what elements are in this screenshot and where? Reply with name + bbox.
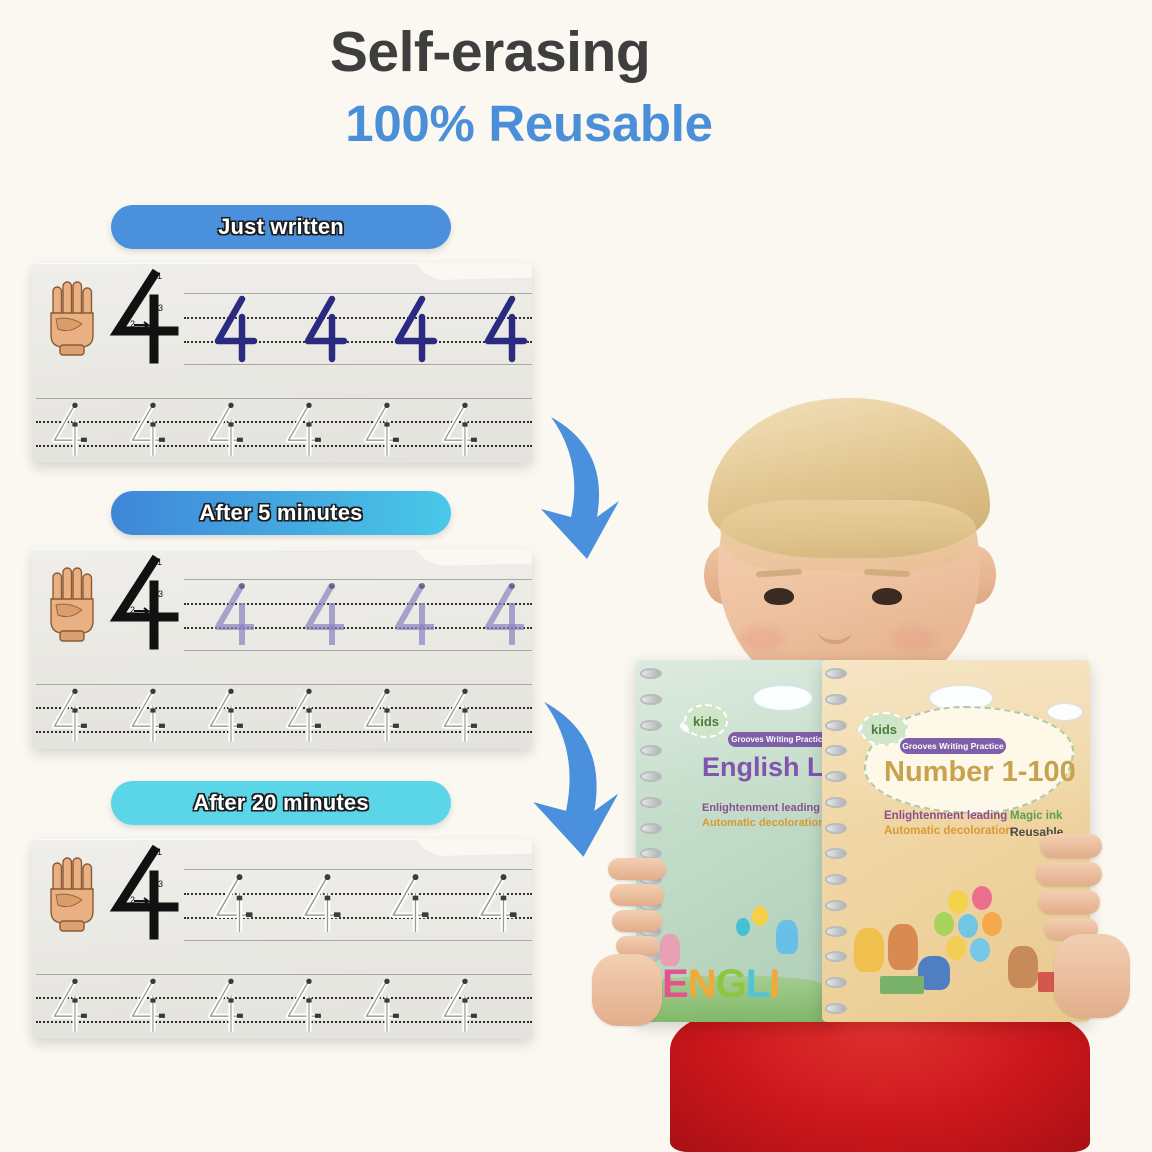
model-digit-four: 1 2 3	[104, 845, 186, 945]
stage-badge-label: After 20 minutes	[193, 790, 369, 816]
groove-digit	[358, 399, 404, 461]
book-english-letters[interactable]: kids Grooves Writing Practice English Le…	[636, 660, 832, 1022]
erased-digit-row	[208, 870, 522, 938]
number-balloon	[972, 886, 992, 910]
kids-badge-green: kids	[684, 704, 728, 738]
book-stack	[880, 976, 924, 994]
english-block-letters: ENGLI	[662, 964, 779, 1004]
page-title: Self-erasing 100% Reusable	[0, 22, 980, 152]
number-balloon	[948, 890, 968, 914]
balloon-cyan	[736, 918, 750, 936]
model-digit-four: 1 2 3	[104, 269, 186, 369]
book-subtitle-decoloration-green: Automatic decoloration	[702, 817, 825, 829]
groove-digit	[296, 870, 346, 938]
groove-digit	[124, 399, 170, 461]
practice-sheet-just-written: 1 2 3	[32, 263, 532, 463]
product-photo: kids Grooves Writing Practice English Le…	[600, 360, 1152, 1152]
written-digit-row	[208, 293, 532, 365]
book-bottom-illustration-green: ENGLI	[636, 884, 832, 1022]
svg-text:3: 3	[158, 589, 163, 599]
faded-digit	[208, 579, 262, 651]
sheet-key-area: 1 2 3	[38, 847, 186, 975]
headline-line-2: 100% Reusable	[0, 96, 980, 152]
groove-digit	[436, 975, 482, 1037]
stage-badge-after-20-minutes: After 20 minutes	[111, 781, 451, 825]
stage-badge-just-written: Just written	[111, 205, 451, 249]
kid-figure-reading-2	[888, 924, 918, 970]
boy-shirt	[670, 1010, 1090, 1152]
faded-digit	[478, 579, 532, 651]
written-digit	[298, 293, 352, 365]
book-title-english: English Le	[702, 752, 832, 783]
stage-badge-label: After 5 minutes	[199, 500, 362, 526]
svg-text:3: 3	[158, 303, 163, 313]
four-fingers-hand-icon	[44, 279, 100, 357]
groove-digit	[436, 399, 482, 461]
faded-digit	[388, 579, 442, 651]
cloud-shape	[754, 686, 812, 710]
number-balloon	[970, 938, 990, 962]
book-subtitle-decoloration-orange: Automatic decoloration	[884, 825, 1012, 837]
curved-down-arrow-1	[527, 405, 637, 565]
headline-line-1: Self-erasing	[0, 22, 980, 84]
gwp-text: Grooves Writing Practice	[731, 735, 826, 744]
groove-digit	[358, 685, 404, 747]
written-digit	[208, 293, 262, 365]
book-subtitle-enlightenment-orange: Enlightenment leading	[884, 810, 1007, 822]
svg-text:3: 3	[158, 879, 163, 889]
groove-digit	[202, 399, 248, 461]
practice-sheet-after-20-minutes: 1 2 3	[32, 839, 532, 1039]
groove-digit	[358, 975, 404, 1037]
written-digit	[388, 293, 442, 365]
groove-digit	[46, 399, 92, 461]
written-digit-row	[208, 579, 532, 651]
stage-badge-after-5-minutes: After 5 minutes	[111, 491, 451, 535]
svg-text:1: 1	[157, 557, 162, 567]
groove-digit	[46, 975, 92, 1037]
stage-badge-label: Just written	[218, 214, 344, 240]
written-digit	[478, 293, 532, 365]
groove-digit	[280, 399, 326, 461]
svg-text:1: 1	[157, 271, 162, 281]
book-subtitle-enlightenment-green: Enlightenment leading	[702, 802, 820, 814]
number-balloon	[958, 914, 978, 938]
boy-cheek-right	[892, 626, 936, 652]
boy-eye-left	[764, 588, 794, 605]
cloud-shape	[1048, 704, 1082, 720]
groove-digit	[208, 870, 258, 938]
boy-nose	[818, 618, 852, 644]
kids-badge-label: kids	[693, 714, 719, 729]
groove-digit	[202, 975, 248, 1037]
book-title-number: Number 1-100	[884, 756, 1076, 789]
groove-digit-row	[46, 685, 482, 747]
four-fingers-hand-icon	[44, 565, 100, 643]
number-balloon	[982, 912, 1002, 936]
groove-digit-row	[46, 399, 482, 461]
groove-digit	[384, 870, 434, 938]
boy-fringe	[720, 500, 976, 570]
grooves-writing-practice-label-green: Grooves Writing Practice	[728, 732, 830, 747]
number-balloon	[946, 936, 966, 960]
groove-digit	[280, 975, 326, 1037]
kids-badge-label: kids	[871, 722, 897, 737]
groove-digit	[202, 685, 248, 747]
book-subtitle-magic-ink: Magic ink	[1010, 810, 1062, 822]
curved-down-arrow-2	[518, 686, 638, 866]
boy-cheek-left	[740, 626, 784, 652]
promo-image: Self-erasing 100% Reusable Just written …	[0, 0, 1152, 1152]
kid-figure-reading-1	[854, 928, 884, 972]
sheet-key-area: 1 2 3	[38, 271, 186, 399]
groove-digit	[124, 685, 170, 747]
kid-figure-reading-4	[1008, 946, 1038, 988]
faded-digit	[298, 579, 352, 651]
groove-digit	[124, 975, 170, 1037]
practice-sheet-after-5-minutes: 1 2 3	[32, 549, 532, 749]
sheet-key-area: 1 2 3	[38, 557, 186, 685]
groove-digit	[436, 685, 482, 747]
groove-digit	[280, 685, 326, 747]
kid-figure-right	[776, 920, 798, 954]
boy-eye-right	[872, 588, 902, 605]
gwp-text: Grooves Writing Practice	[902, 741, 1003, 751]
balloon-yellow	[752, 906, 768, 926]
grooves-writing-practice-label-orange: Grooves Writing Practice	[900, 738, 1006, 754]
four-fingers-hand-icon	[44, 855, 100, 933]
model-digit-four: 1 2 3	[104, 555, 186, 655]
svg-text:1: 1	[157, 847, 162, 857]
number-balloon	[934, 912, 954, 936]
groove-digit	[472, 870, 522, 938]
groove-digit-row	[46, 975, 482, 1037]
groove-digit	[46, 685, 92, 747]
